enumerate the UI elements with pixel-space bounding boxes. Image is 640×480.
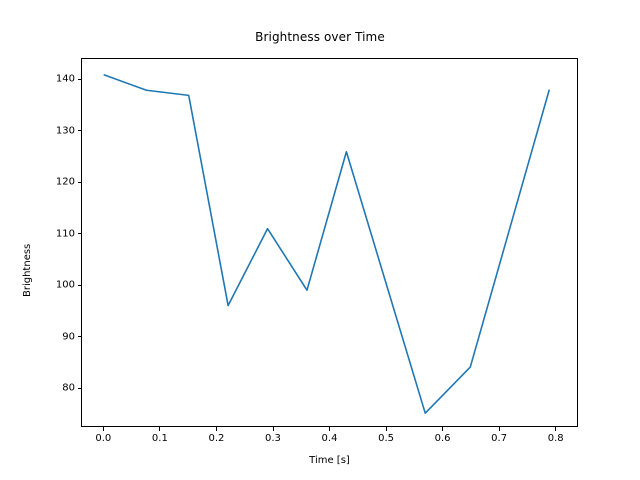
plot-axes	[81, 58, 578, 427]
x-tick-label: 0.2	[208, 433, 224, 444]
chart-title: Brightness over Time	[0, 30, 640, 44]
y-tick-mark	[78, 233, 82, 234]
x-tick-label: 0.1	[152, 433, 168, 444]
y-tick-label: 80	[39, 383, 75, 394]
x-tick-mark	[159, 427, 160, 431]
x-tick-mark	[442, 427, 443, 431]
y-tick-label: 120	[39, 177, 75, 188]
x-tick-mark	[216, 427, 217, 431]
y-tick-label: 130	[39, 125, 75, 136]
brightness-line	[104, 75, 549, 413]
x-tick-mark	[329, 427, 330, 431]
y-tick-mark	[78, 285, 82, 286]
y-axis-label: Brightness	[22, 244, 33, 297]
x-tick-label: 0.7	[491, 433, 507, 444]
x-tick-mark	[499, 427, 500, 431]
x-tick-label: 0.4	[322, 433, 338, 444]
x-tick-label: 0.5	[378, 433, 394, 444]
x-tick-label: 0.0	[95, 433, 111, 444]
y-tick-mark	[78, 130, 82, 131]
y-tick-label: 90	[39, 331, 75, 342]
y-tick-label: 100	[39, 280, 75, 291]
y-tick-label: 110	[39, 228, 75, 239]
y-tick-mark	[78, 182, 82, 183]
x-tick-mark	[386, 427, 387, 431]
x-tick-label: 0.6	[435, 433, 451, 444]
x-tick-mark	[555, 427, 556, 431]
x-tick-label: 0.8	[548, 433, 564, 444]
y-tick-mark	[78, 336, 82, 337]
x-tick-mark	[273, 427, 274, 431]
y-tick-mark	[78, 388, 82, 389]
figure-canvas: Brightness over Time 0.00.10.20.30.40.50…	[0, 0, 640, 480]
x-tick-mark	[103, 427, 104, 431]
x-axis-label: Time [s]	[81, 455, 578, 466]
line-series-plot	[82, 59, 577, 426]
x-tick-label: 0.3	[265, 433, 281, 444]
y-tick-label: 140	[39, 74, 75, 85]
y-tick-mark	[78, 79, 82, 80]
